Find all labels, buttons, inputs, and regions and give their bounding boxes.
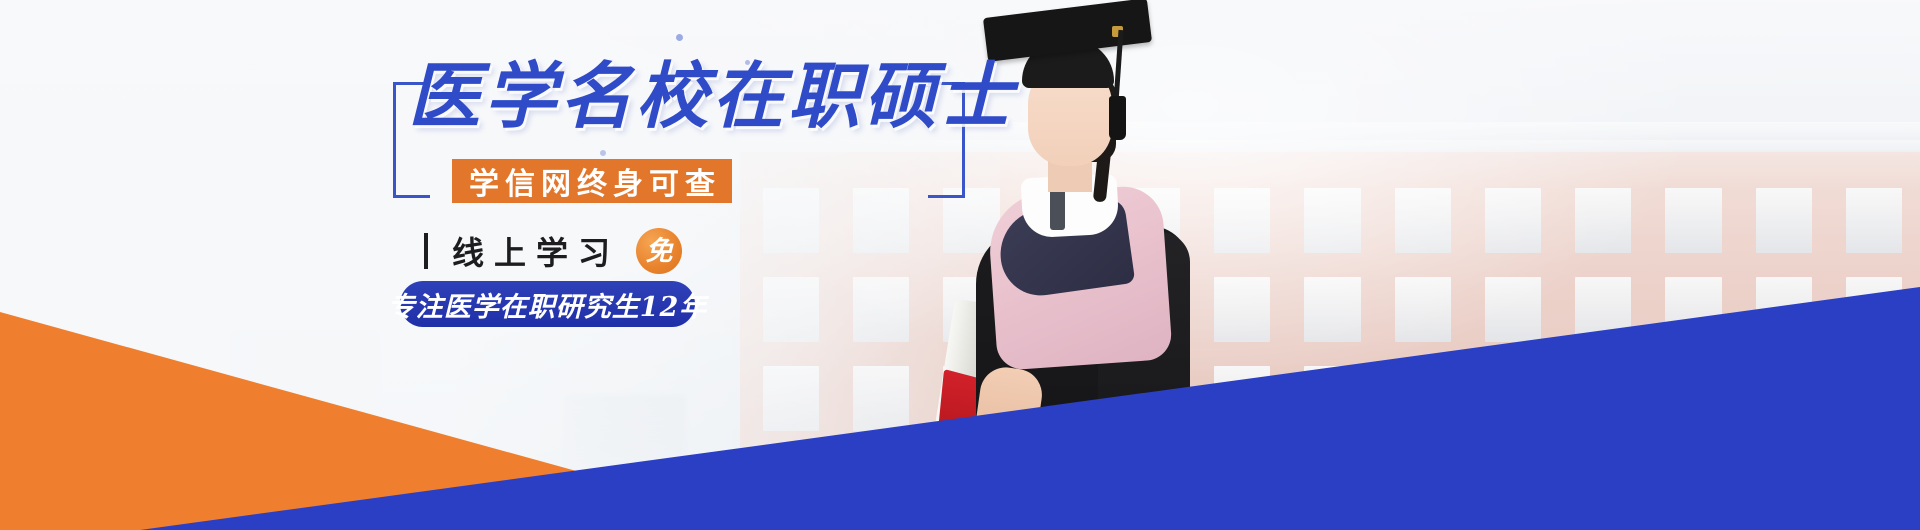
- headline-title: 医学名校在职硕士: [408, 56, 953, 136]
- experience-pill-label: 专注医学在职研究生12年: [388, 285, 708, 324]
- necktie: [1050, 186, 1065, 230]
- free-badge-label: 免: [646, 238, 673, 265]
- sparkle-dot: [676, 34, 683, 41]
- graduation-tassel: [1109, 96, 1126, 140]
- verification-badge-label: 学信网终身可查: [463, 159, 721, 203]
- online-study-label: 线上学习: [442, 228, 620, 274]
- vertical-bar-icon: [424, 233, 428, 269]
- sparkle-dot: [600, 150, 606, 156]
- experience-pill: 专注医学在职研究生12年: [400, 281, 695, 327]
- free-badge-circle: 免: [636, 228, 682, 274]
- promo-banner: 医学名校在职硕士 学信网终身可查 线上学习 免 专注医学在职研究生12年: [0, 0, 1920, 530]
- online-study-row: 线上学习 免: [424, 228, 682, 274]
- verification-badge: 学信网终身可查: [452, 159, 732, 203]
